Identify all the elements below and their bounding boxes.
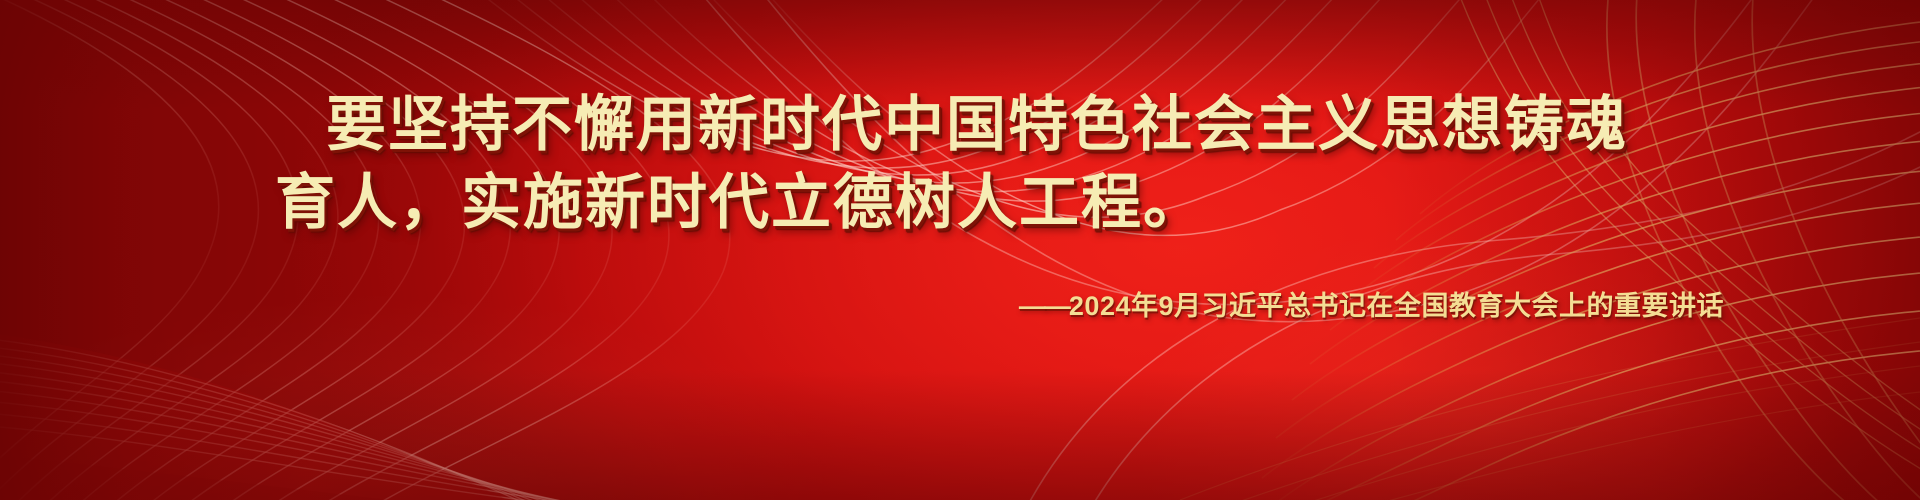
banner-text-block: 要坚持不懈用新时代中国特色社会主义思想铸魂 育人，实施新时代立德树人工程。 ——…	[0, 86, 1920, 323]
attribution-text: 2024年9月习近平总书记在全国教育大会上的重要讲话	[1069, 291, 1724, 321]
attribution-line: ——2024年9月习近平总书记在全国教育大会上的重要讲话	[0, 242, 1920, 323]
headline-line-1: 要坚持不懈用新时代中国特色社会主义思想铸魂	[0, 86, 1920, 164]
attribution-dash: ——	[1019, 291, 1069, 321]
headline-line-2: 育人，实施新时代立德树人工程。	[0, 164, 1920, 242]
propaganda-banner: 要坚持不懈用新时代中国特色社会主义思想铸魂 育人，实施新时代立德树人工程。 ——…	[0, 0, 1920, 500]
